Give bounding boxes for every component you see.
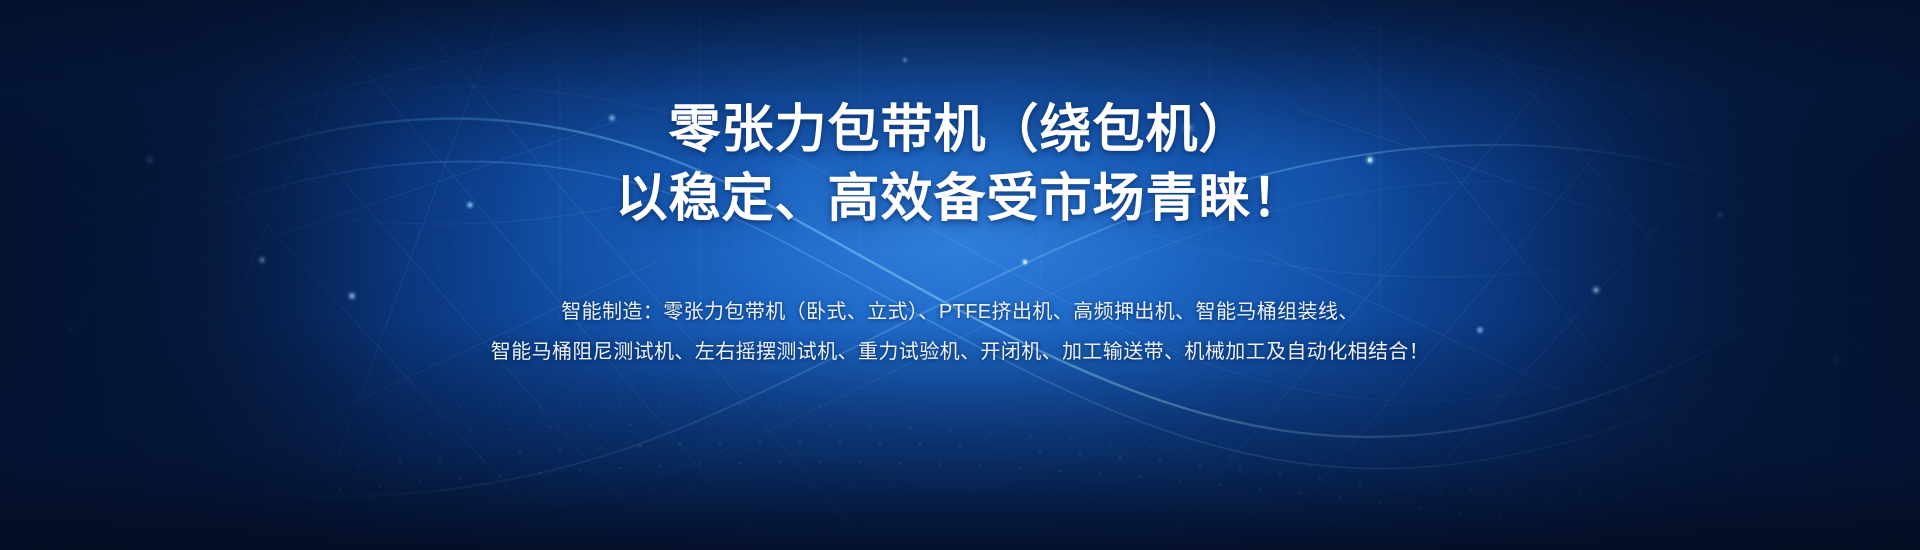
headline-line-2: 以稳定、高效备受市场青睐！: [615, 165, 1304, 234]
banner-headline: 零张力包带机（绕包机） 以稳定、高效备受市场青睐！: [615, 96, 1304, 233]
subheadline-line-2: 智能马桶阻尼测试机、左右摇摆测试机、重力试验机、开闭机、加工输送带、机械加工及自…: [491, 332, 1429, 372]
subheadline-line-1: 智能制造：零张力包带机（卧式、立式）、PTFE挤出机、高频押出机、智能马桶组装线…: [491, 292, 1429, 332]
hero-banner: 零张力包带机（绕包机） 以稳定、高效备受市场青睐！ 智能制造：零张力包带机（卧式…: [0, 0, 1920, 550]
headline-line-1: 零张力包带机（绕包机）: [615, 96, 1304, 165]
banner-subheadline: 智能制造：零张力包带机（卧式、立式）、PTFE挤出机、高频押出机、智能马桶组装线…: [491, 292, 1429, 372]
banner-content: 零张力包带机（绕包机） 以稳定、高效备受市场青睐！ 智能制造：零张力包带机（卧式…: [0, 0, 1920, 550]
